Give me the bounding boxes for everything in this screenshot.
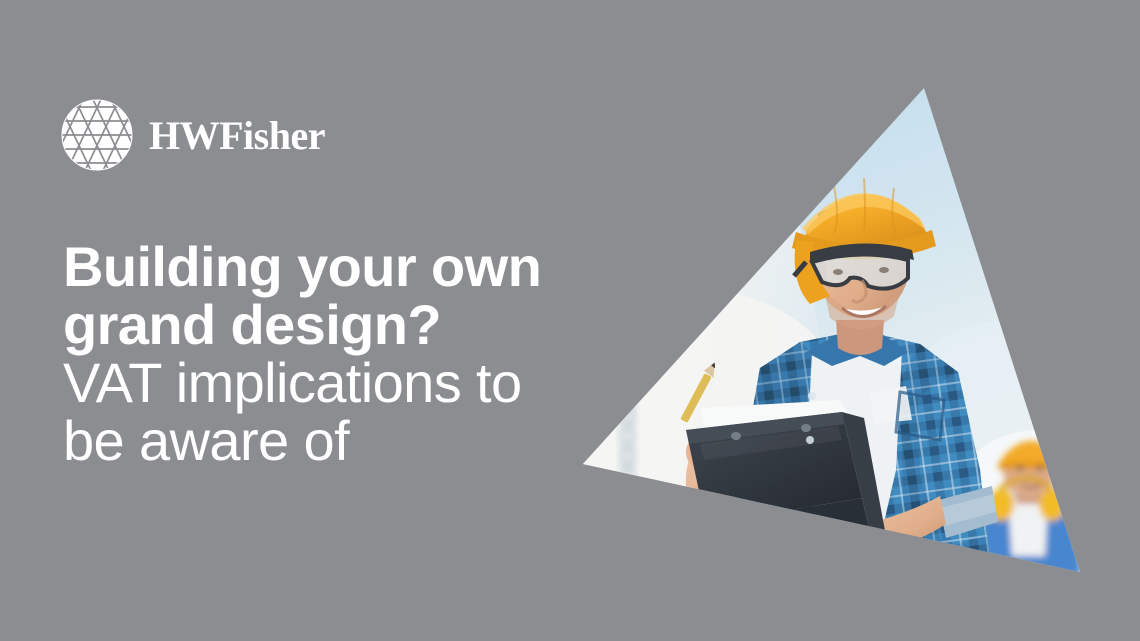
lattice-circle-icon <box>61 99 133 171</box>
clipboard <box>686 412 886 560</box>
pencil <box>680 360 720 423</box>
headline-line-1: Building your own <box>63 238 623 296</box>
left-hand <box>686 438 738 522</box>
headline-line-3: VAT implications to <box>63 354 623 412</box>
brand-wordmark: HWFisher <box>149 116 325 156</box>
brand-lockup[interactable]: HWFisher <box>61 99 325 171</box>
banner-canvas: HWFisher Building your own grand design?… <box>0 0 1140 641</box>
headline-line-4: be aware of <box>63 412 623 470</box>
background-worker <box>975 441 1080 580</box>
foreground-worker <box>680 178 998 568</box>
safety-glasses <box>794 243 914 288</box>
headline: Building your own grand design? VAT impl… <box>63 238 623 470</box>
headline-line-2: grand design? <box>63 296 623 354</box>
